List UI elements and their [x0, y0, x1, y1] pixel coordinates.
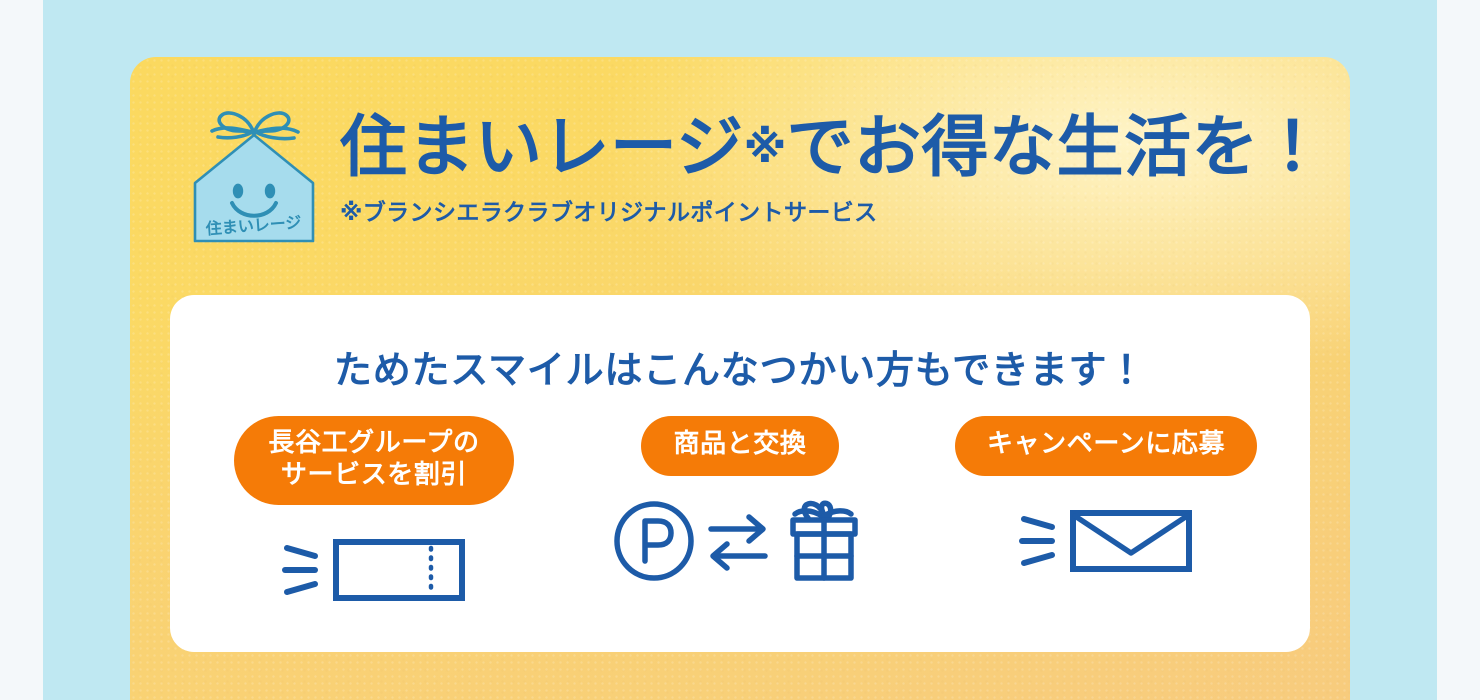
pill-campaign-button[interactable]: キャンペーンに応募: [955, 416, 1257, 476]
page-root: 住まいレージ 住まいレージ※でお得な生活を！ ※ブランシエラクラブオリジナルポイ…: [0, 0, 1480, 700]
envelope-icon: [1016, 501, 1196, 581]
ticket-icon-wrap: [279, 527, 469, 613]
ticket-icon: [279, 530, 469, 610]
promo-header-text: 住まいレージ※でお得な生活を！ ※ブランシエラクラブオリジナルポイントサービス: [340, 113, 1326, 227]
pill-exchange-button[interactable]: 商品と交換: [641, 416, 838, 476]
usage-card: ためたスマイルはこんなつかい方もできます！ 長谷工グループの サービスを割引: [170, 295, 1310, 652]
usage-option-exchange: 商品と交換: [557, 416, 923, 584]
page-subtitle: ※ブランシエラクラブオリジナルポイントサービス: [340, 193, 1326, 227]
page-title: 住まいレージ※でお得な生活を！: [340, 113, 1326, 183]
page-title-tail: でお得な生活を！: [786, 108, 1326, 186]
promo-card: 住まいレージ 住まいレージ※でお得な生活を！ ※ブランシエラクラブオリジナルポイ…: [130, 57, 1350, 700]
usage-option-campaign: キャンペーンに応募: [923, 416, 1289, 584]
pill-discount-button[interactable]: 長谷工グループの サービスを割引: [234, 416, 513, 505]
promo-header: 住まいレージ 住まいレージ※でお得な生活を！ ※ブランシエラクラブオリジナルポイ…: [190, 95, 1326, 249]
reference-mark: ※: [744, 122, 787, 173]
house-mascot-smiley-icon: 住まいレージ: [190, 99, 322, 249]
right-page-gutter: [1437, 0, 1480, 700]
left-page-gutter: [0, 0, 43, 700]
point-exchange-gift-icon: [610, 498, 870, 584]
point-exchange-gift-icon-wrap: [610, 498, 870, 584]
page-title-main: 住まいレージ: [340, 108, 744, 186]
envelope-icon-wrap: [1016, 498, 1196, 584]
usage-option-discount: 長谷工グループの サービスを割引: [191, 416, 557, 613]
usage-card-heading: ためたスマイルはこんなつかい方もできます！: [170, 339, 1310, 394]
usage-options-row: 長谷工グループの サービスを割引: [170, 416, 1310, 613]
